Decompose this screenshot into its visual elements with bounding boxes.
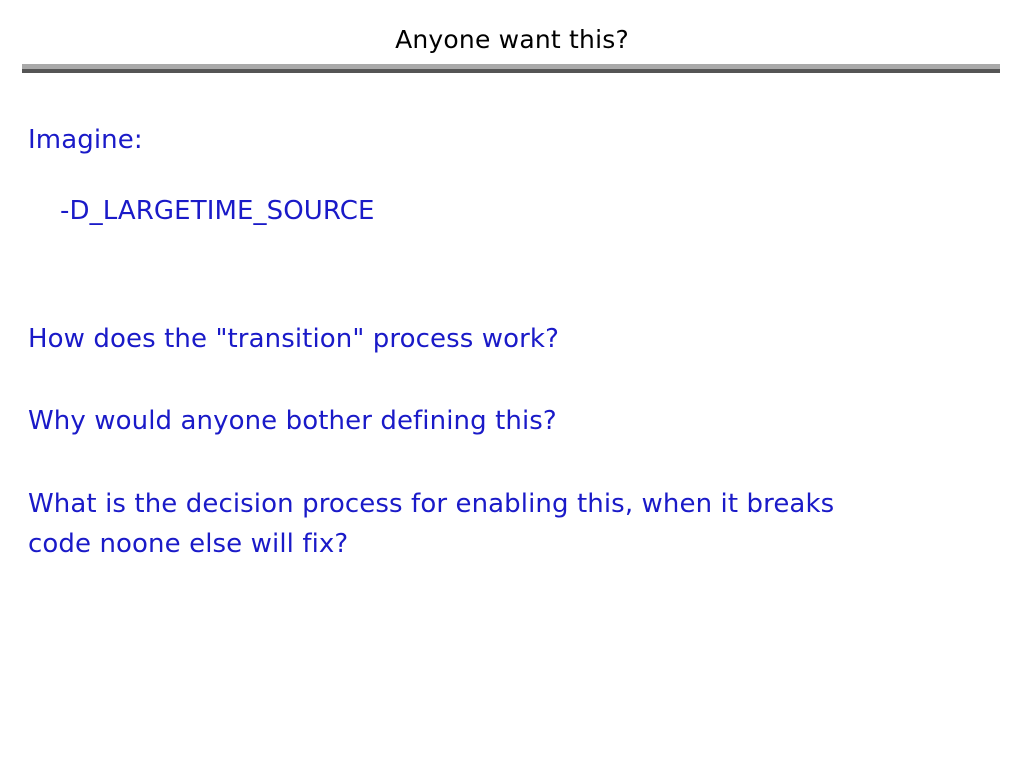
body-line-define-flag: -D_LARGETIME_SOURCE <box>60 191 375 231</box>
body-line-imagine: Imagine: <box>28 120 143 160</box>
body-line-question-decision-process-part1: What is the decision process for enablin… <box>28 484 908 524</box>
presentation-slide: Anyone want this? Imagine: -D_LARGETIME_… <box>0 0 1024 768</box>
body-line-question-transition: How does the "transition" process work? <box>28 319 559 359</box>
body-line-question-why-define: Why would anyone bother defining this? <box>28 401 557 441</box>
slide-body: Imagine: -D_LARGETIME_SOURCE How does th… <box>0 0 1024 768</box>
body-line-question-decision-process-part2: code noone else will fix? <box>28 524 348 564</box>
